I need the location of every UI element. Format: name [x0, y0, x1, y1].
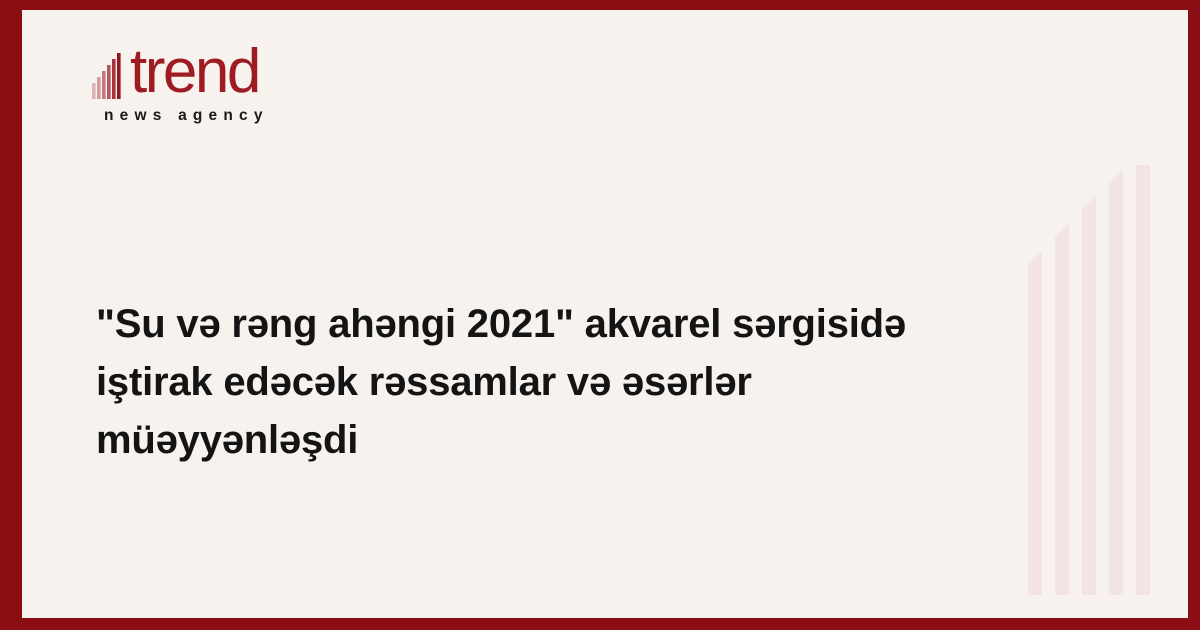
frame-bottom-bar — [0, 618, 1200, 630]
social-share-card: trend news agency "Su və rəng ahəngi 202… — [0, 0, 1200, 630]
trend-ascending-bars-mark-icon — [92, 49, 128, 99]
frame-left-bar — [0, 0, 22, 630]
frame-top-bar — [0, 0, 1200, 10]
ascending-bar-chart-watermark — [1028, 165, 1168, 595]
trend-news-agency-logo[interactable]: trend news agency — [92, 44, 342, 128]
logo-wordmark: trend — [130, 44, 259, 100]
headline-title: "Su və rəng ahəngi 2021" akvarel sərgisi… — [96, 295, 996, 469]
frame-right-bar — [1188, 0, 1200, 630]
logo-primary-row: trend — [92, 44, 342, 100]
logo-tagline: news agency — [104, 107, 342, 125]
